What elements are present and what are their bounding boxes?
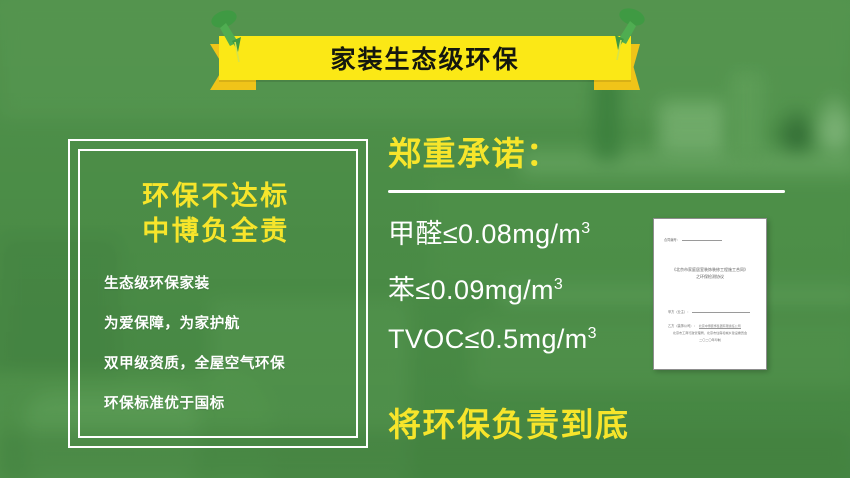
spec-name: TVOC	[388, 324, 465, 354]
list-item: 为爱保障，为家护航	[104, 312, 354, 333]
spec-operator: ≤	[443, 219, 458, 249]
spec-row-formaldehyde: 甲醛≤0.08mg/m3	[388, 212, 591, 251]
document-title: 《北京市家庭居室装饰装修工程施工合同》 之环保检测协议	[654, 266, 766, 280]
document-party-b-value: 北京中博装饰集团有限责任公司	[699, 324, 741, 329]
headline-line-1: 环保不达标	[78, 179, 354, 214]
right-panel: 郑重承诺：	[388, 136, 808, 172]
pushpin-icon	[602, 6, 648, 64]
spec-row-tvoc: TVOC≤0.5mg/m3	[388, 324, 597, 355]
spec-exponent: 3	[581, 220, 590, 237]
left-panel-bullet-list: 生态级环保家装 为爱保障，为家护航 双甲级资质，全屋空气环保 环保标准优于国标	[78, 272, 354, 432]
document-party-a-label: 甲方（业主）：	[668, 310, 690, 314]
contract-document-thumbnail: 合同编号： 《北京市家庭居室装饰装修工程施工合同》 之环保检测协议 甲方（业主）…	[653, 218, 767, 370]
promise-title: 郑重承诺：	[388, 136, 808, 172]
document-party-b: 乙方（装饰公司）：北京中博装饰集团有限责任公司	[668, 323, 741, 329]
document-field-text: 合同编号：	[664, 238, 680, 242]
divider	[388, 190, 785, 193]
document-footer: 北京市工商行政管理局、北京市住房和城乡建设委员会 二〇二〇年印制	[654, 330, 766, 343]
spec-unit: mg/m	[519, 324, 588, 354]
document-footer-line-2: 二〇二〇年印制	[654, 337, 766, 343]
spec-value: 0.08	[458, 219, 512, 249]
top-banner: 家装生态级环保	[0, 0, 850, 100]
headline-line-2: 中博负全责	[78, 214, 354, 249]
spec-operator: ≤	[465, 324, 480, 354]
spec-value: 0.09	[431, 275, 485, 305]
document-party-b-label: 乙方（装饰公司）：	[668, 324, 697, 328]
document-title-line-1: 《北京市家庭居室装饰装修工程施工合同》	[654, 266, 766, 273]
document-title-line-2: 之环保检测协议	[654, 273, 766, 280]
spec-exponent: 3	[554, 276, 563, 293]
banner-title: 家装生态级环保	[219, 36, 631, 80]
spec-unit: mg/m	[512, 219, 581, 249]
spec-name: 苯	[388, 275, 415, 305]
left-panel-content: 环保不达标 中博负全责 生态级环保家装 为爱保障，为家护航 双甲级资质，全屋空气…	[78, 149, 354, 434]
document-field-label: 合同编号：	[664, 237, 722, 242]
spec-exponent: 3	[588, 325, 597, 342]
left-panel-headline: 环保不达标 中博负全责	[78, 179, 354, 248]
poster-canvas: 家装生态级环保 环保不达标 中博负全责 生态级环保家装 为爱保障，为家护航 双甲…	[0, 0, 850, 478]
bottom-slogan: 将环保负责到底	[388, 398, 630, 446]
spec-row-benzene: 苯≤0.09mg/m3	[388, 268, 563, 307]
spec-operator: ≤	[415, 275, 430, 305]
document-party-a: 甲方（业主）：	[668, 309, 750, 314]
list-item: 生态级环保家装	[104, 272, 354, 293]
spec-name: 甲醛	[388, 219, 443, 249]
list-item: 双甲级资质，全屋空气环保	[104, 352, 354, 373]
pushpin-icon	[208, 8, 254, 66]
spec-unit: mg/m	[485, 275, 554, 305]
document-blank-line	[692, 309, 750, 313]
document-blank-line	[682, 237, 722, 241]
spec-value: 0.5	[480, 324, 519, 354]
list-item: 环保标准优于国标	[104, 392, 354, 413]
